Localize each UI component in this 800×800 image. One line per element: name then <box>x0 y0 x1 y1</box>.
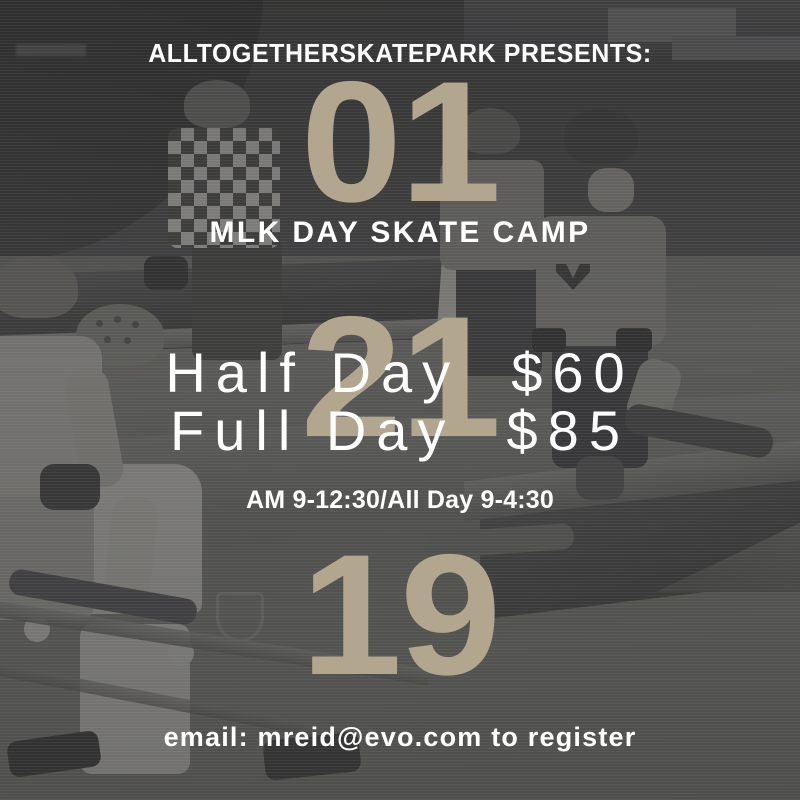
poster-kicker-headline: ALLTOGETHERSKATEPARK PRESENTS: <box>16 38 784 69</box>
skate-camp-flyer: 01 21 19 ALLTOGETHERSKATEPARK PRESENTS: … <box>0 0 800 800</box>
poster-title: MLK DAY SKATE CAMP <box>0 216 800 250</box>
camp-hours-text: AM 9-12:30/All Day 9-4:30 <box>0 486 800 515</box>
price-line-half-day: Half Day $60 <box>0 340 800 405</box>
date-month-number: 01 <box>0 56 800 228</box>
price-line-full-day: Full Day $85 <box>0 398 800 463</box>
registration-contact-text: email: mreid@evo.com to register <box>0 722 800 753</box>
poster-text-overlay: 01 21 19 ALLTOGETHERSKATEPARK PRESENTS: … <box>0 0 800 800</box>
date-year-number: 19 <box>0 529 800 701</box>
